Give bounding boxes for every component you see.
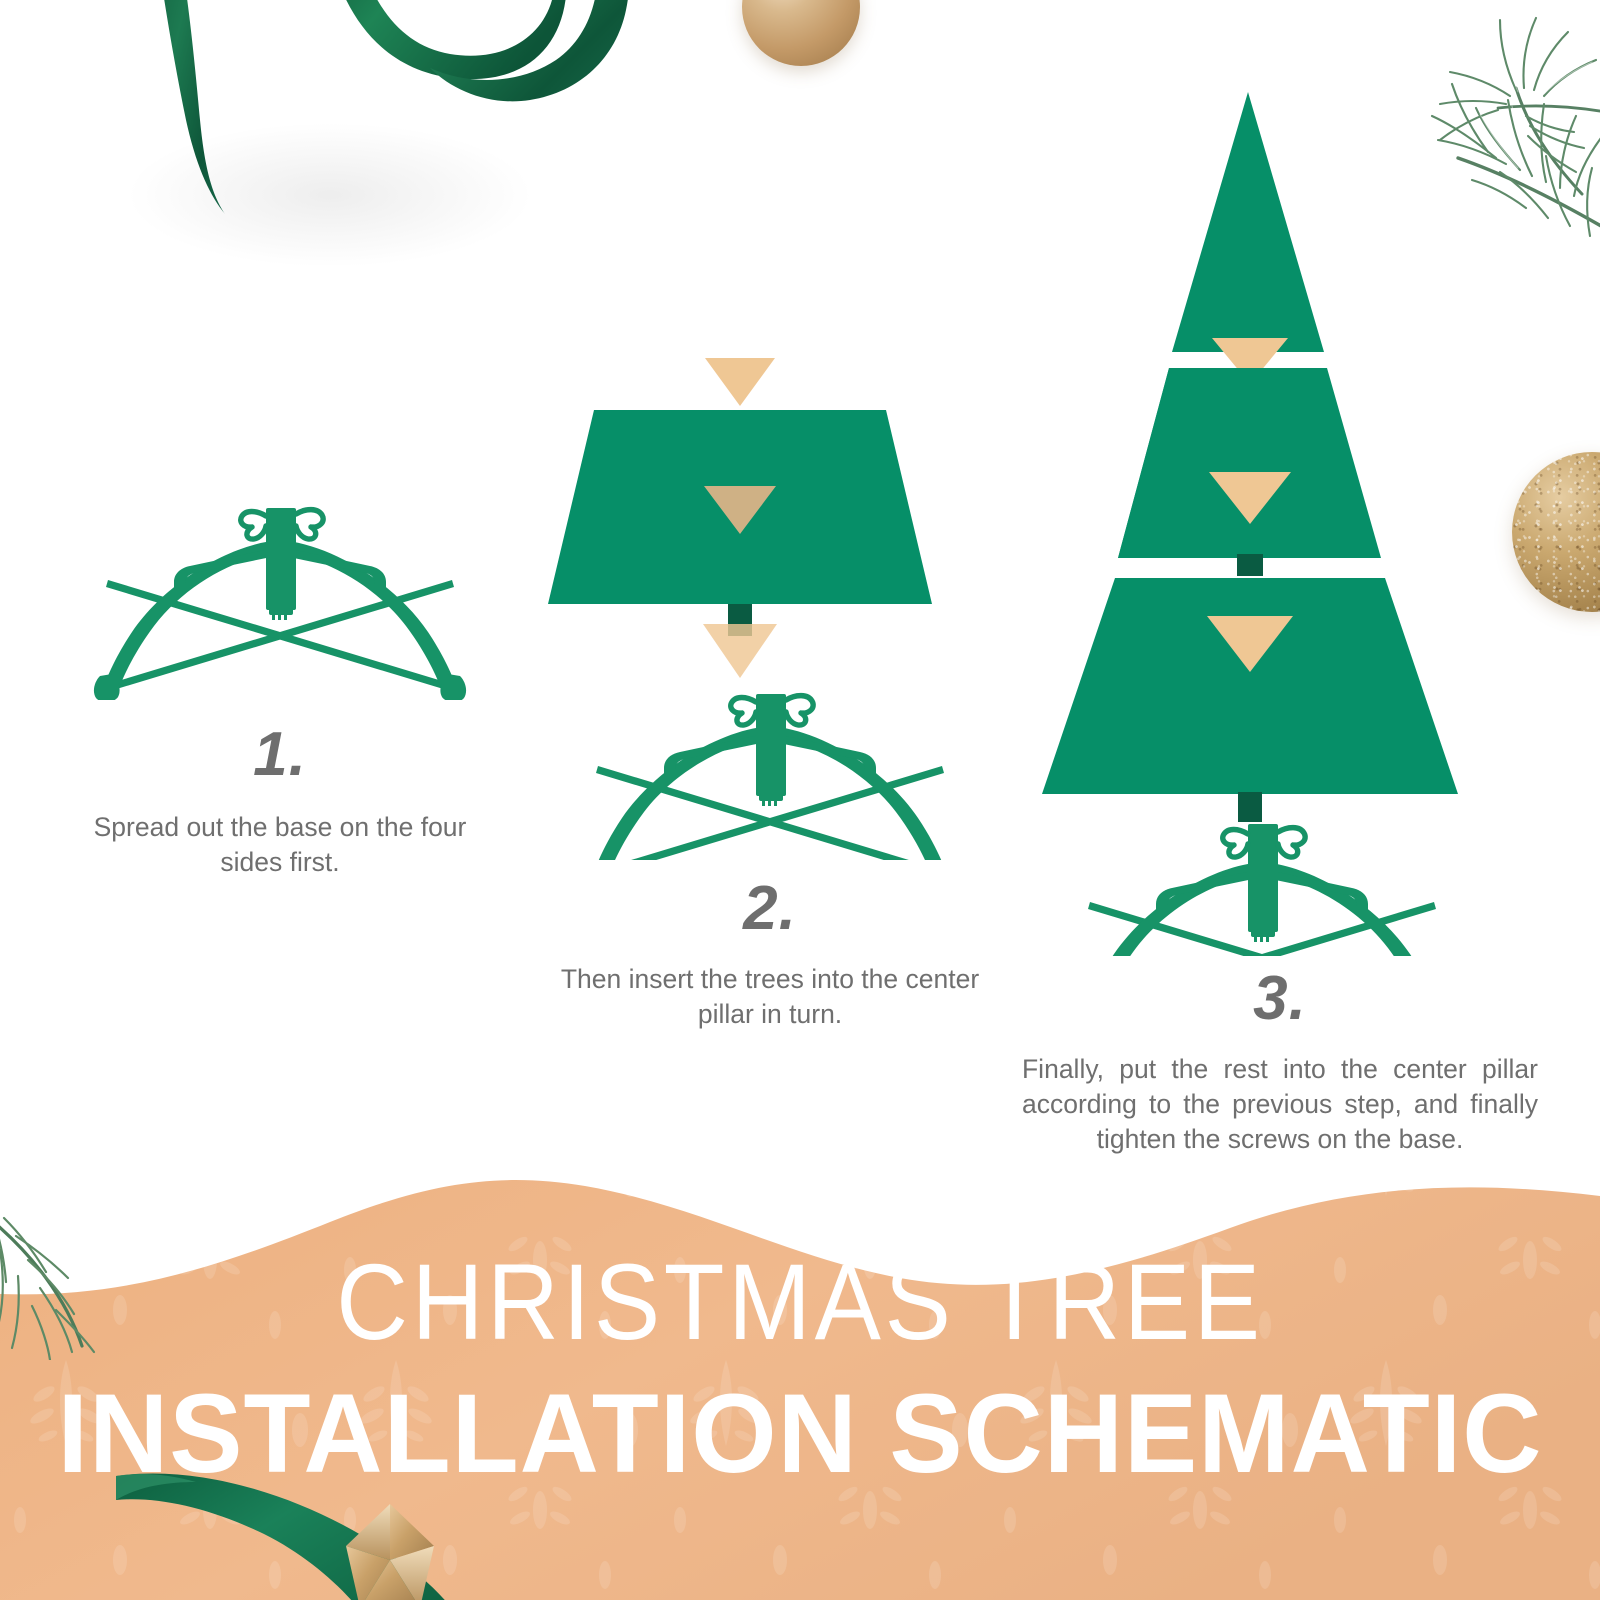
gold-glitter-star-bottom <box>330 1500 450 1600</box>
step-1-number: 1. <box>30 724 530 786</box>
step-2: 2. Then insert the trees into the center… <box>490 340 1050 1032</box>
tree-section-and-stand-icon <box>490 340 1050 860</box>
footer-title-line-1: CHRISTMAS TREE <box>64 1248 1536 1356</box>
step-3-number: 3. <box>1000 968 1560 1030</box>
tree-bottom-section <box>1042 578 1458 794</box>
tree-stand-icon <box>70 470 490 700</box>
arrow-down-icon <box>705 358 775 406</box>
ribbon-shadow <box>120 120 540 270</box>
gold-ball-ornament-top <box>742 0 860 66</box>
step-3: 3. Finally, put the rest into the center… <box>1000 76 1560 1158</box>
step-2-number: 2. <box>490 878 1050 940</box>
poster-canvas: 1. Spread out the base on the four sides… <box>0 0 1600 1600</box>
step-1-description: Spread out the base on the four sides fi… <box>30 810 530 880</box>
step-1: 1. Spread out the base on the four sides… <box>30 470 530 880</box>
tree-top-section <box>1172 92 1324 352</box>
footer-title-line-2: INSTALLATION SCHEMATIC <box>16 1378 1584 1490</box>
step-2-description: Then insert the trees into the center pi… <box>490 962 1050 1032</box>
assembled-tree-icon <box>1000 76 1560 956</box>
